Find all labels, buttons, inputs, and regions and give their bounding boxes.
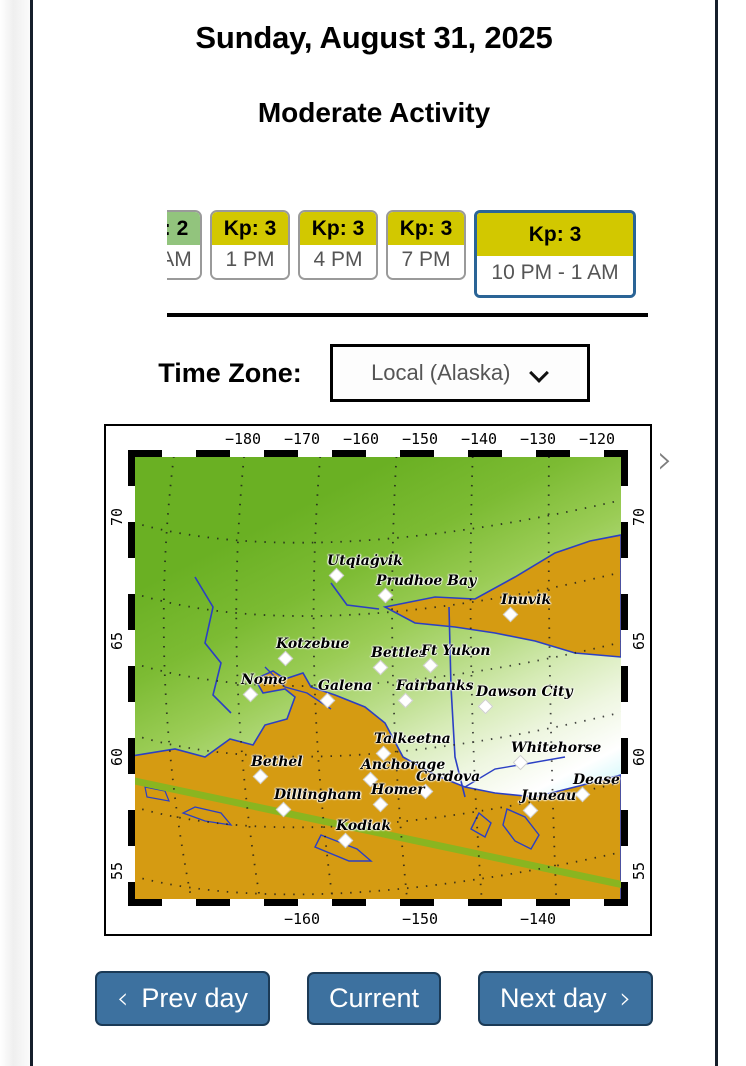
kp-card[interactable]: Kp: 31 PM xyxy=(210,210,290,280)
timezone-select[interactable]: Local (Alaska) xyxy=(330,344,590,402)
kp-card-time: 7 PM xyxy=(388,245,464,278)
activity-level-heading: Moderate Activity xyxy=(33,56,715,129)
page-content-panel: Sunday, August 31, 2025 Moderate Activit… xyxy=(30,0,718,1066)
city-label: Kodiak xyxy=(336,818,391,834)
map-lat-tick-label: 60 xyxy=(630,748,648,766)
aurora-forecast-map: −180−170−160−150−140−130−120 −160−150−14… xyxy=(104,424,652,936)
chevron-down-icon xyxy=(532,365,548,381)
prev-day-button[interactable]: ‹ Prev day xyxy=(95,971,270,1026)
map-frame-left xyxy=(128,450,135,906)
map-lat-tick-label: 60 xyxy=(108,748,126,766)
kp-cards-viewport: Kp: 210 AMKp: 31 PMKp: 34 PMKp: 37 PMKp:… xyxy=(167,210,648,306)
day-navigation-row: ‹ Prev day Current Next day › xyxy=(33,966,715,1030)
kp-card-value: Kp: 3 xyxy=(212,212,288,245)
kp-card-value: Kp: 3 xyxy=(388,212,464,245)
map-lon-tick-label: −170 xyxy=(272,430,332,448)
current-day-label: Current xyxy=(329,985,419,1012)
timezone-row: Time Zone: Local (Alaska) xyxy=(33,340,715,406)
carousel-next-icon[interactable]: › xyxy=(657,440,673,480)
next-day-label: Next day xyxy=(500,985,607,1012)
kp-card[interactable]: Kp: 310 PM - 1 AM xyxy=(474,210,636,298)
next-day-button[interactable]: Next day › xyxy=(478,971,653,1026)
kp-card-time: 1 PM xyxy=(212,245,288,278)
city-label: Whitehorse xyxy=(511,740,601,756)
map-lon-tick-label: −160 xyxy=(331,430,391,448)
city-label: Dease Lake xyxy=(573,772,621,788)
city-label: Cordova xyxy=(416,769,480,785)
page-left-gutter xyxy=(0,0,30,1066)
city-label: Prudhoe Bay xyxy=(376,573,476,589)
city-label: Homer xyxy=(371,782,425,798)
map-lon-tick-label: −150 xyxy=(390,430,450,448)
city-label: Kotzebue xyxy=(276,636,349,652)
chevron-right-icon: › xyxy=(620,984,632,1013)
map-lat-tick-label: 65 xyxy=(630,632,648,650)
timezone-label: Time Zone: xyxy=(158,358,302,389)
city-label: Nome xyxy=(241,672,287,688)
city-label: Juneau xyxy=(521,788,576,804)
map-lon-tick-label: −150 xyxy=(390,910,450,928)
kp-cards-track: Kp: 210 AMKp: 31 PMKp: 34 PMKp: 37 PMKp:… xyxy=(167,210,636,298)
map-lat-tick-label: 70 xyxy=(108,508,126,526)
map-lat-tick-label: 70 xyxy=(630,508,648,526)
map-plot-area: UtqiaġvikPrudhoe BayInuvikKotzebueBettle… xyxy=(128,450,628,906)
city-label: Talkeetna xyxy=(374,731,451,747)
city-label: Bettles xyxy=(371,645,427,661)
map-lon-tick-label: −180 xyxy=(213,430,273,448)
city-label: Utqiaġvik xyxy=(327,553,403,569)
kp-card-value: Kp: 3 xyxy=(300,212,376,245)
map-frame-bottom xyxy=(128,899,628,906)
map-canvas: UtqiaġvikPrudhoe BayInuvikKotzebueBettle… xyxy=(135,457,621,899)
kp-forecast-carousel: ‹ › Kp: 210 AMKp: 31 PMKp: 34 PMKp: 37 P… xyxy=(33,200,715,325)
map-lon-tick-label: −140 xyxy=(449,430,509,448)
chevron-left-icon: ‹ xyxy=(117,984,129,1013)
map-frame-right xyxy=(621,450,628,906)
kp-card[interactable]: Kp: 210 AM xyxy=(167,210,202,280)
kp-card-value: Kp: 2 xyxy=(167,212,200,245)
map-lon-tick-label: −130 xyxy=(508,430,568,448)
page-title: Sunday, August 31, 2025 xyxy=(33,0,715,56)
kp-card[interactable]: Kp: 34 PM xyxy=(298,210,378,280)
map-lon-tick-label: −140 xyxy=(508,910,568,928)
current-day-button[interactable]: Current xyxy=(307,972,441,1025)
city-label: Fairbanks xyxy=(396,678,474,694)
kp-card-value: Kp: 3 xyxy=(477,213,633,256)
prev-day-label: Prev day xyxy=(141,985,248,1012)
map-lon-tick-label: −160 xyxy=(272,910,332,928)
map-lat-tick-label: 65 xyxy=(108,632,126,650)
carousel-divider xyxy=(167,313,648,317)
kp-card-time: 10 AM xyxy=(167,245,200,278)
city-label: Dillingham xyxy=(274,787,361,803)
city-label: Galena xyxy=(318,678,373,694)
kp-card[interactable]: Kp: 37 PM xyxy=(386,210,466,280)
kp-card-time: 10 PM - 1 AM xyxy=(477,256,633,295)
kp-card-time: 4 PM xyxy=(300,245,376,278)
page-right-gutter xyxy=(721,0,746,1066)
map-lat-tick-label: 55 xyxy=(630,862,648,880)
map-lon-tick-label: −120 xyxy=(567,430,627,448)
city-label: Inuvik xyxy=(501,592,551,608)
map-frame-top xyxy=(128,450,628,457)
city-label: Dawson City xyxy=(476,684,573,700)
timezone-selected-value: Local (Alaska) xyxy=(371,360,510,386)
city-label: Bethel xyxy=(251,754,303,770)
city-label: Ft Yukon xyxy=(421,643,490,659)
map-lat-tick-label: 55 xyxy=(108,862,126,880)
